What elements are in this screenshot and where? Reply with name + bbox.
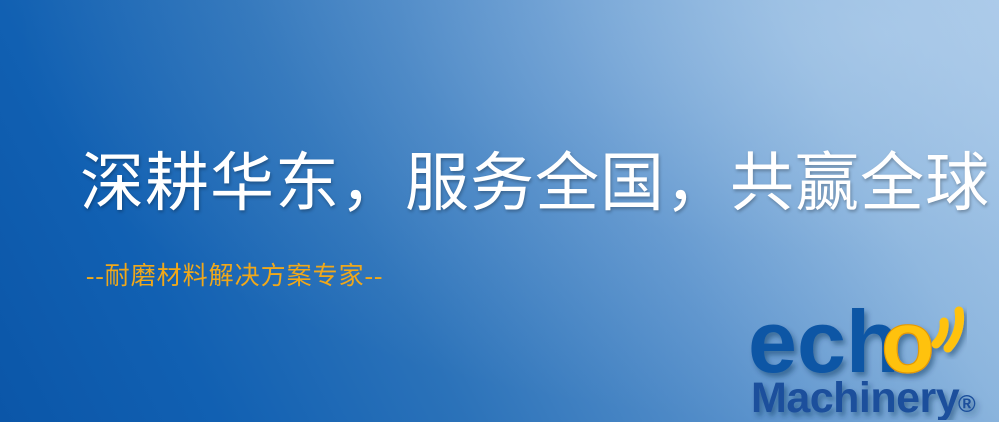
logo-text-machinery: Machinery: [751, 374, 960, 420]
hero-banner: 深耕华东，服务全国，共赢全球 --耐磨材料解决方案专家-- ech o Mach…: [0, 0, 999, 422]
echo-machinery-logo: ech o Machinery ®: [748, 292, 996, 420]
logo-svg: ech o Machinery ®: [748, 292, 996, 420]
logo-subwordmark-group: Machinery ®: [751, 374, 976, 420]
signal-waves-icon: [936, 311, 960, 348]
logo-registered-mark: ®: [958, 391, 976, 418]
banner-headline: 深耕华东，服务全国，共赢全球: [80, 152, 990, 216]
banner-subtitle: --耐磨材料解决方案专家--: [86, 264, 383, 289]
